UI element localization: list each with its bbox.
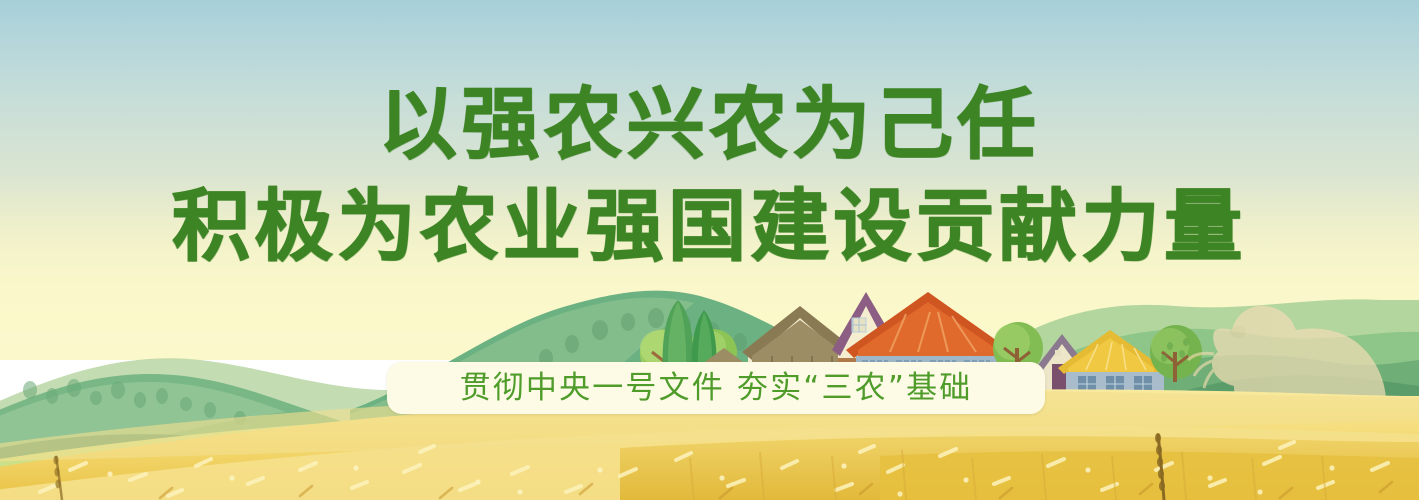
headline-block: 以强农兴农为己任 积极为农业强国建设贡献力量 [0,86,1419,266]
headline-line-1: 以强农兴农为己任 [0,86,1419,164]
agriculture-promo-banner: 以强农兴农为己任 积极为农业强国建设贡献力量 贯彻中央一号文件 夯实“三农”基础 [0,0,1419,500]
subtitle-text: 贯彻中央一号文件 夯实“三农”基础 [460,373,973,404]
subtitle-pill: 贯彻中央一号文件 夯实“三农”基础 [387,362,1045,414]
headline-line-2: 积极为农业强国建设贡献力量 [0,188,1419,266]
